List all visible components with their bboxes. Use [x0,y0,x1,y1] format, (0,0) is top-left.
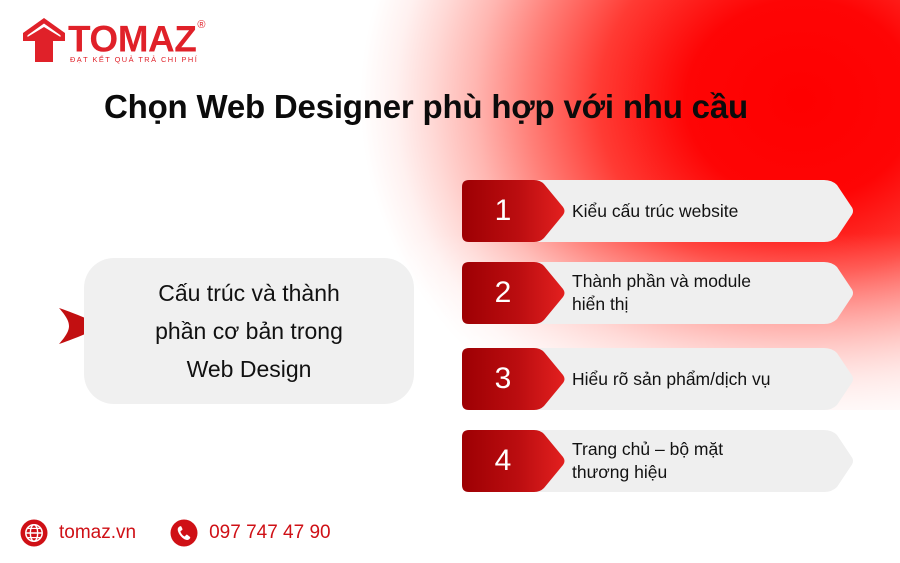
globe-icon [20,519,48,547]
footer-phone[interactable]: 097 747 47 90 [170,519,331,547]
page-title: Chọn Web Designer phù hợp với nhu cầu [104,88,748,126]
footer-contact-bar: tomaz.vn 097 747 47 90 [20,519,365,547]
step-label: Hiểu rõ sản phẩm/dịch vụ [572,348,822,410]
step-row-4[interactable]: 4 Trang chủ – bộ mặt thương hiệu [462,430,854,492]
brand-logo[interactable]: TOMAZ® ĐẠT KẾT QUẢ TRẢ CHI PHÍ [22,16,204,64]
step-label: Trang chủ – bộ mặt thương hiệu [572,430,822,492]
step-row-1[interactable]: 1 Kiểu cấu trúc website [462,180,854,242]
step-label: Kiểu cấu trúc website [572,180,822,242]
step-label: Thành phần và module hiển thị [572,262,822,324]
step-row-2[interactable]: 2 Thành phần và module hiển thị [462,262,854,324]
step-number: 3 [462,348,544,410]
concept-box: Cấu trúc và thành phần cơ bản trong Web … [84,258,414,404]
website-label: tomaz.vn [59,522,136,544]
brand-name-text: TOMAZ [68,18,196,59]
step-number: 2 [462,262,544,324]
step-number: 1 [462,180,544,242]
phone-icon [170,519,198,547]
tomaz-arrow-logo-icon [22,16,66,64]
step-number: 4 [462,430,544,492]
concept-text: Cấu trúc và thành phần cơ bản trong Web … [131,274,367,388]
infographic-canvas: TOMAZ® ĐẠT KẾT QUẢ TRẢ CHI PHÍ Chọn Web … [0,0,900,563]
footer-website[interactable]: tomaz.vn [20,519,136,547]
registered-mark: ® [197,19,205,31]
brand-name: TOMAZ® [68,16,204,58]
step-row-3[interactable]: 3 Hiểu rõ sản phẩm/dịch vụ [462,348,854,410]
phone-label: 097 747 47 90 [209,522,331,544]
